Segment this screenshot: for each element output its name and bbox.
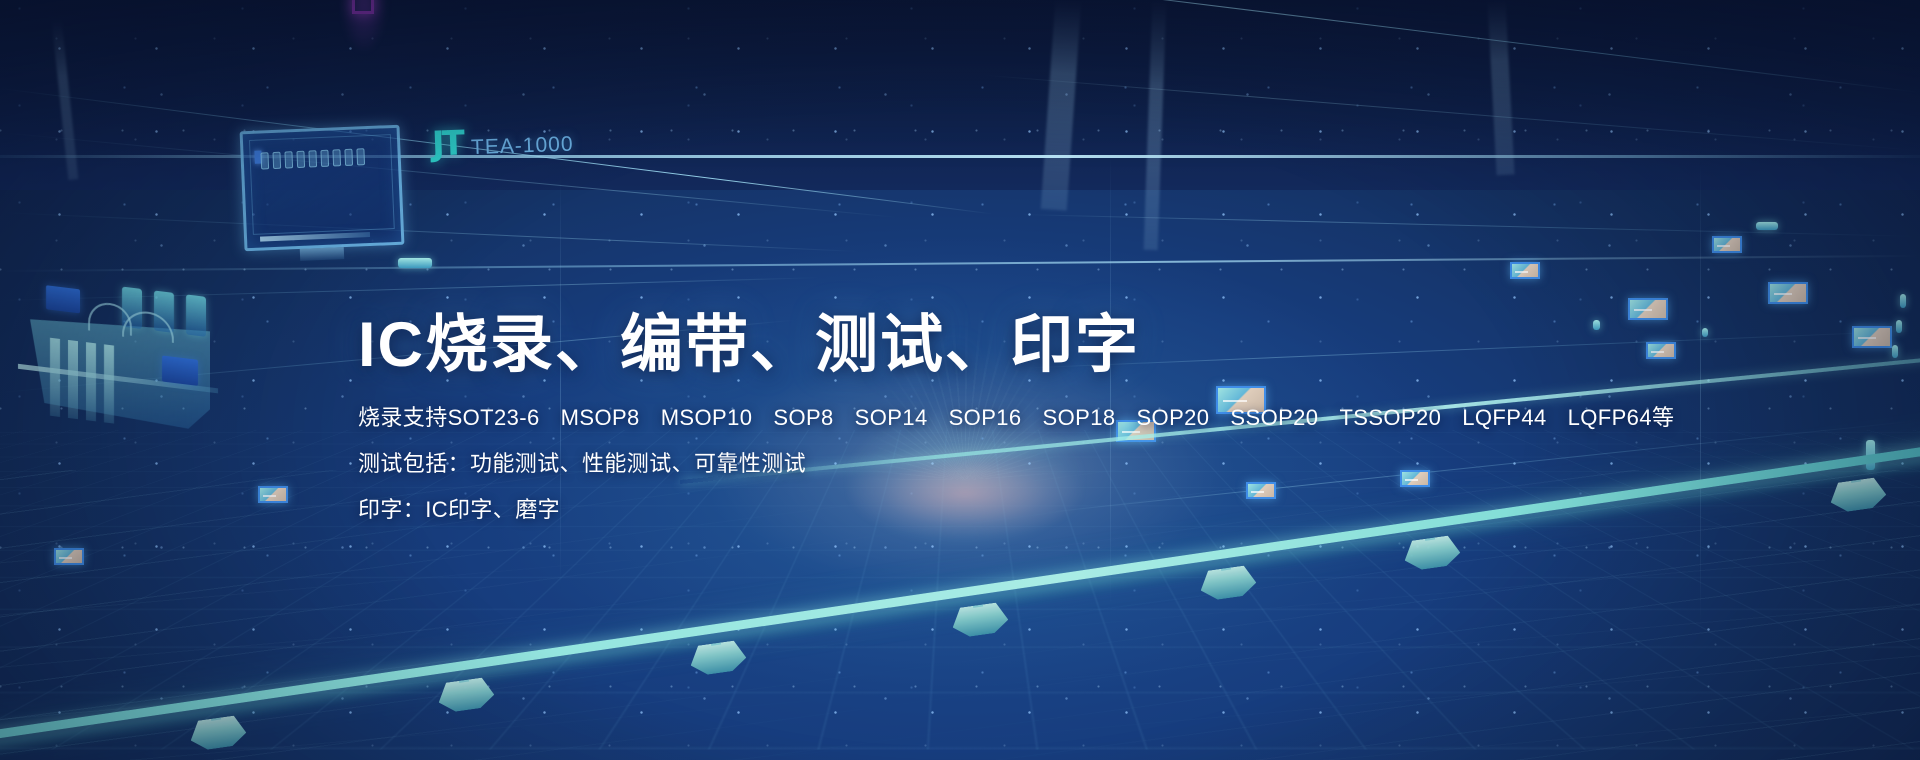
- machine-control-box: [46, 285, 80, 313]
- monitor-stand: [300, 247, 344, 261]
- jt-logo-model: TEA-1000: [471, 133, 574, 161]
- chip-icon: [1628, 298, 1668, 320]
- package-item: TSSOP20: [1339, 407, 1441, 429]
- chip-icon: [1712, 236, 1742, 253]
- chip-icon: [1852, 326, 1892, 348]
- capsule-glow: [1900, 294, 1906, 308]
- feature-line-test: 测试包括：功能测试、性能测试、可靠性测试: [358, 453, 1618, 475]
- package-item: MSOP8: [561, 407, 640, 429]
- package-item: SOP20: [1136, 407, 1209, 429]
- burn-prefix-label: 烧录支持SOT23-6: [358, 407, 540, 429]
- chip-icon: [1646, 342, 1676, 359]
- hero-copy: IC烧录、编带、测试、印字 烧录支持SOT23-6MSOP8MSOP10SOP8…: [358, 312, 1618, 521]
- package-item: LQFP64等: [1568, 407, 1675, 429]
- jt-logo: JT TEA-1000: [431, 120, 574, 165]
- wireframe-monitor: [240, 125, 405, 252]
- package-item: SOP14: [855, 407, 928, 429]
- chip-icon: [1510, 262, 1540, 279]
- chip-icon: [1768, 282, 1808, 304]
- chip-icon: [258, 486, 288, 503]
- machine-fin: [50, 338, 60, 417]
- machine-control-box: [162, 355, 198, 385]
- machine-head: [186, 294, 206, 336]
- feature-lines: 烧录支持SOT23-6MSOP8MSOP10SOP8SOP14SOP16SOP1…: [358, 407, 1618, 521]
- capsule-glow: [398, 258, 432, 268]
- magenta-accent-icon: [352, 0, 374, 14]
- machine-fin: [104, 344, 114, 423]
- feature-line-marking: 印字：IC印字、磨字: [358, 499, 1618, 521]
- feature-line-burn: 烧录支持SOT23-6MSOP8MSOP10SOP8SOP14SOP16SOP1…: [358, 407, 1618, 429]
- package-item: MSOP10: [661, 407, 753, 429]
- package-list: MSOP8MSOP10SOP8SOP14SOP16SOP18SOP20SSOP2…: [561, 405, 1675, 430]
- jt-logo-mark: JT: [431, 123, 462, 164]
- capsule-glow: [1896, 320, 1902, 333]
- package-item: SOP18: [1043, 407, 1116, 429]
- page-title: IC烧录、编带、测试、印字: [358, 312, 1618, 379]
- package-item: SOP16: [949, 407, 1022, 429]
- hero-banner: JT TEA-1000: [0, 0, 1920, 760]
- machine-fin: [86, 342, 96, 421]
- machine-fin: [68, 340, 78, 419]
- machine-silhouette: [10, 255, 225, 466]
- capsule-glow: [1892, 345, 1898, 358]
- package-item: SSOP20: [1230, 407, 1318, 429]
- capsule-glow: [1756, 222, 1778, 230]
- package-item: LQFP44: [1462, 407, 1546, 429]
- chip-icon: [54, 548, 84, 565]
- package-item: SOP8: [773, 407, 833, 429]
- capsule-glow: [1702, 328, 1708, 337]
